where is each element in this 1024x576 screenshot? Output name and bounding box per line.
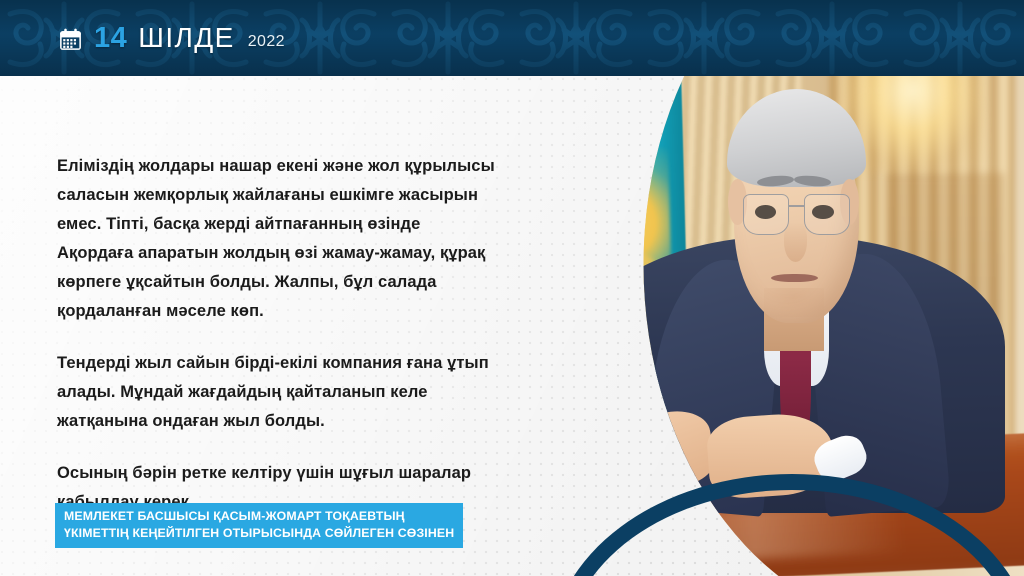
lens-right [804,194,850,235]
flag-sun-core [599,199,632,268]
source-caption-bar: МЕМЛЕКЕТ БАСШЫСЫ ҚАСЫМ-ЖОМАРТ ТОҚАЕВТЫҢ … [55,503,463,548]
glasses-bridge [789,205,804,207]
hand-left [591,405,718,499]
mouth [771,274,817,283]
calendar-icon [58,27,83,52]
flag-pole-ornament [561,47,589,474]
president-photo [560,0,1024,576]
date-day: 14 [94,24,127,53]
slide-canvas: 14 ШІЛДЕ 2022 [0,0,1024,576]
lens-left [743,194,789,235]
photo-artwork [560,0,1024,576]
header-date-group: 14 ШІЛДЕ 2022 [58,0,285,76]
chin-shadow [764,288,824,317]
caption-line-1: МЕМЛЕКЕТ БАСШЫСЫ ҚАСЫМ-ЖОМАРТ ТОҚАЕВТЫҢ [64,508,454,525]
quote-paragraph-1: Еліміздің жолдары нашар екені және жол қ… [57,152,497,326]
date-month: ШІЛДЕ [138,24,234,52]
quote-paragraph-2: Тендерді жыл сайын бірді-екілі компания … [57,349,497,436]
date-year: 2022 [248,34,285,50]
header-bar: 14 ШІЛДЕ 2022 [0,0,1024,76]
caption-line-2: ҮКІМЕТТІҢ КЕҢЕЙТІЛГЕН ОТЫРЫСЫНДА СӨЙЛЕГЕ… [64,525,454,542]
photo-clip-shape [560,0,1024,576]
pen [587,469,654,501]
quote-text-block: Еліміздің жолдары нашар екені және жол қ… [57,152,497,517]
